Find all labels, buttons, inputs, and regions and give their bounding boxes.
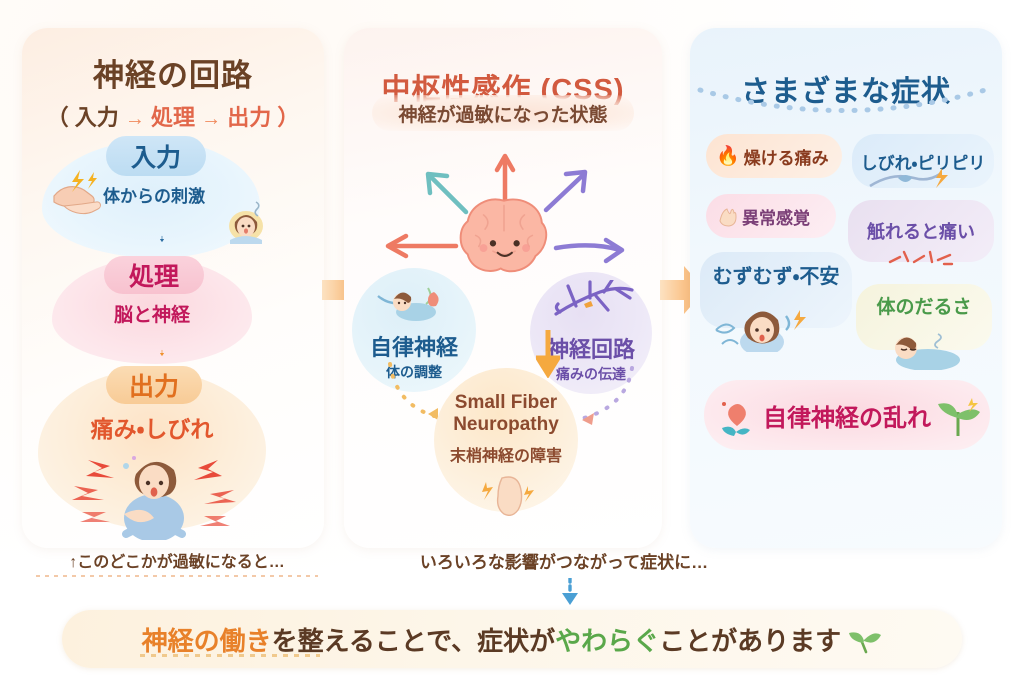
person-pain-icon [58,442,248,540]
symptom-label: 体のだるさ [876,292,971,319]
hand-icon [716,205,738,227]
banner-dotted-underline [140,654,320,657]
left-sub-a: （ 入力 [47,105,119,130]
sfn-line2: Neuropathy [453,414,559,435]
heart-plant-icon [714,396,760,442]
symptom-label: 觗れると痛い [867,218,975,244]
plant-sprout-icon [932,392,986,438]
symptom-label: 自律神経の乱れ [763,398,931,433]
nerve-spark-icon [868,166,956,192]
smiling-brain-icon [456,196,552,278]
step-pill-process: 処理 [104,256,204,294]
bottom-message-banner: 神経の働きを整えることで、症状がやわらぐことがあります [62,610,962,668]
infographic-canvas: 神経の回路 （ 入力 → 処理 → 出力 ） 入力 体からの刺激 処理 脳と神経 [0,0,1024,683]
arrow-input-to-process [160,222,164,256]
banner-part4: ことがあります [659,626,841,656]
step-desc-output: 痛み・しびれ [38,410,266,444]
step-pill-output: 出力 [106,366,202,404]
flame-icon: 🔥 [716,144,740,168]
left-footnote-dashes [36,575,318,577]
arrow-down-to-banner [560,578,580,606]
banner-text: 神経の働きを整えることで、症状がやわらぐことがあります [142,621,883,658]
left-panel-title: 神経の回路 [22,50,324,95]
symptom-chip-abnormal-sensation[interactable]: 異常感覚 [706,194,836,238]
arrow-glyph-1: → [125,108,145,130]
foot-icon [482,474,536,516]
sfn-english-name: Small Fiber Neuropathy [453,392,559,436]
left-sub-b: 処理 [151,105,195,130]
nerve-branch-icon [546,280,638,324]
arrow-glyph-2: → [201,108,221,130]
banner-part3: やわらぐ [555,626,659,656]
symptom-label: 異常感覚 [742,204,810,229]
arrow-process-to-output [160,336,164,370]
leaf-icon [848,626,882,656]
step-desc-input: 体からの刺激 [48,182,260,207]
symptom-chip-burning-pain[interactable]: 🔥 燥ける痛み [706,134,842,178]
resting-person-icon [376,282,450,322]
sfn-line1: Small Fiber [455,392,557,413]
left-panel-footnote: ↑このどこかが過敏になると… [22,548,332,572]
banner-part2: を整えることで、症状が [272,626,555,656]
symptom-label: むずむず・不安 [713,260,840,289]
left-panel-subtitle: （ 入力 → 処理 → 出力 ） [22,100,324,132]
step-pill-input: 入力 [106,136,206,176]
center-panel-subtitle: 神経が過敏になった状態 [344,100,662,127]
symptom-label: 燥ける痛み [744,144,829,169]
anxious-person-icon [712,300,810,352]
pain-burst-icon [886,248,956,270]
dotted-divider-arc [696,86,996,126]
step-desc-process: 脳と神経 [52,300,252,327]
center-panel-footnote: いろいろな影響がつながって症状に… [344,548,784,573]
arrow-down-to-sfn [536,330,560,378]
banner-part1: 神経の働き [142,626,272,656]
left-sub-c: 出力 ） [227,105,299,130]
sfn-japanese-name: 末梢神経の障害 [450,442,562,466]
sleeping-person-icon [880,330,968,370]
